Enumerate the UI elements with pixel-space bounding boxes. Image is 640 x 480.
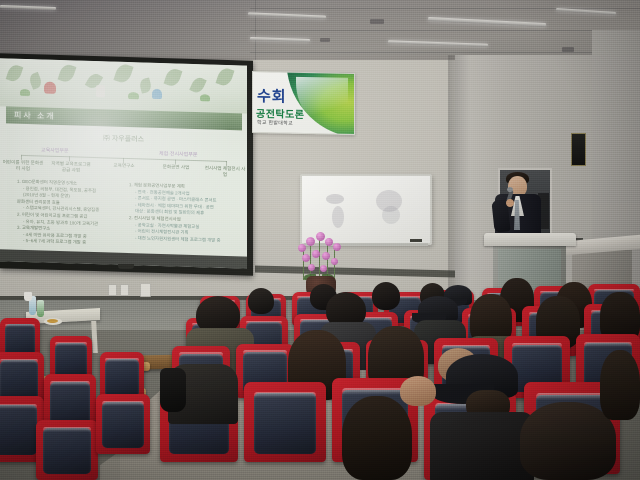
slide-org-chart: 교육사업부문 체험·전시사업부문 어린이를 위한 문화센터 사업 지역별 교육프…	[7, 145, 240, 178]
slide-right-column: 1. 체험 문화공연사업부문 계획 - 연극 · 전통공연예술 2개사업 - 콘…	[129, 182, 234, 245]
wall-outlet[interactable]	[108, 284, 117, 296]
ceiling-vent	[370, 19, 384, 24]
food-item	[47, 319, 58, 323]
auditorium-seat[interactable]	[96, 394, 150, 454]
org-node: 문화공연 사업	[154, 164, 198, 171]
presenter-hand	[506, 199, 514, 207]
banner-line-1: 수회	[257, 85, 287, 107]
banner-line-3: 학교 한밭대학교	[257, 119, 293, 127]
org-node: 전시사업 체험전시 사업	[203, 165, 247, 179]
slide-heading: ㈜ 자우플러스	[7, 130, 240, 147]
paper-cup[interactable]	[24, 292, 32, 301]
org-node: 지역별 교육프로그램 공급 사업	[49, 161, 93, 175]
microphone-head-icon	[507, 187, 513, 192]
org-node: 교육연구소	[102, 162, 146, 169]
auditorium-seat[interactable]	[36, 420, 98, 480]
water-bottle[interactable]	[37, 300, 44, 317]
slide-title: 피사 소개	[14, 110, 56, 122]
ceiling-vent	[320, 38, 330, 42]
projection-screen: 피사 소개 ㈜ 자우플러스 교육사업부문 체험·전시사업부문 어린이를 위한 문…	[0, 53, 253, 276]
podium-top	[484, 233, 576, 246]
slide-left-column: 1. GEO문화센터 직영운영 5개소 - 용인점, 의정부, 대전점, 목포점…	[17, 179, 122, 248]
ceiling-vent	[562, 47, 574, 52]
auditorium-seat[interactable]	[244, 382, 326, 462]
screen-pull-tab	[118, 264, 134, 269]
wall-speaker	[571, 133, 586, 166]
branch-label-left: 교육사업부문	[41, 146, 69, 154]
wall-banner: 수회 공전탁도론 학교 한밭대학교	[252, 71, 355, 135]
photo-scene: 피사 소개 ㈜ 자우플러스 교육사업부문 체험·전시사업부문 어린이를 위한 문…	[0, 0, 640, 480]
whiteboard-marker[interactable]	[410, 239, 422, 242]
org-node: 어린이를 위한 문화센터 사업	[1, 159, 45, 173]
branch-label-right: 체험·전시사업부문	[159, 150, 197, 158]
slide-body: ㈜ 자우플러스 교육사업부문 체험·전시사업부문 어린이를 위한 문화센터 사업…	[7, 126, 240, 258]
projected-slide: 피사 소개 ㈜ 자우플러스 교육사업부문 체험·전시사업부문 어린이를 위한 문…	[0, 58, 247, 268]
wall-outlet[interactable]	[140, 283, 151, 297]
wall-outlet[interactable]	[120, 284, 129, 296]
slide-header-graphic	[0, 58, 247, 113]
